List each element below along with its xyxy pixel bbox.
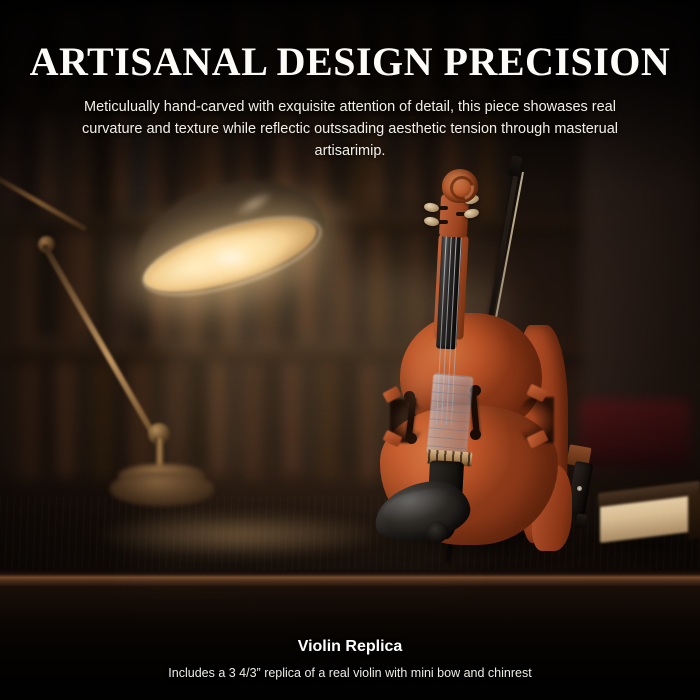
book-spine-edge <box>688 492 700 540</box>
product-description-caption: Includes a 3 4/3” replica of a real viol… <box>0 666 700 680</box>
page-title: ARTISANAL DESIGN PRECISION <box>0 38 700 85</box>
violin-replica <box>360 165 610 585</box>
violin-peg-stem <box>438 206 448 210</box>
lamp-bulb-glow <box>178 232 286 284</box>
product-hero-image: ARTISANAL DESIGN PRECISION Meticulually … <box>0 0 700 700</box>
violin-f-hole-notch <box>470 429 481 440</box>
desk-lamp <box>0 150 320 530</box>
violin-chinrest-clamp <box>426 521 448 543</box>
violin-tuning-peg <box>423 216 439 227</box>
lamp-upper-arm <box>0 168 87 231</box>
description-text: Meticulually hand-carved with exquisite … <box>56 96 644 162</box>
violin-peg-stem <box>438 220 448 224</box>
violin-tuning-peg <box>423 202 439 213</box>
violin-string-sleeve-lines <box>427 373 474 456</box>
product-name-caption: Violin Replica <box>0 638 700 656</box>
lamp-base <box>110 472 214 506</box>
hardcover-book <box>600 487 700 543</box>
